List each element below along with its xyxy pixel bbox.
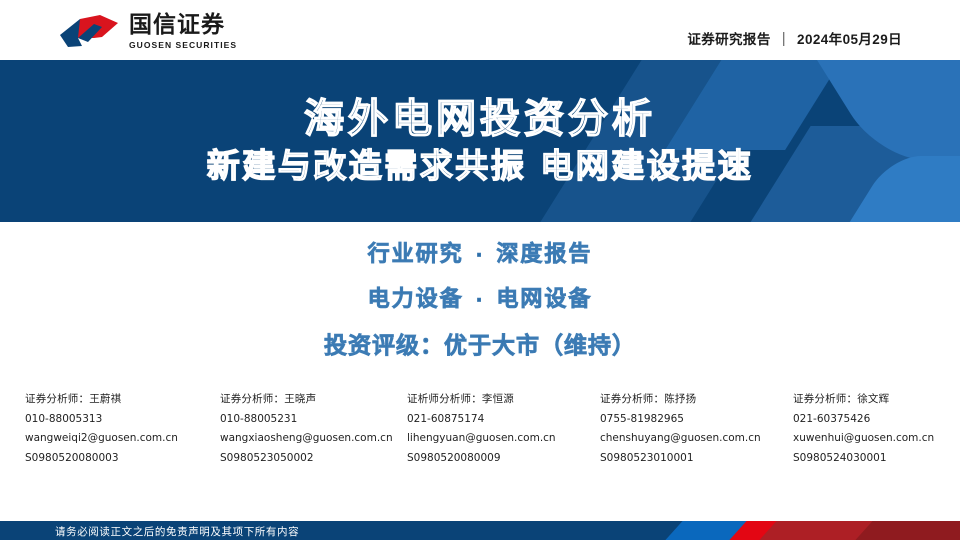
analyst-email[interactable]: lihengyuan@guosen.com.cn bbox=[407, 433, 600, 444]
analyst-column: 证券分析师：徐文辉 021-60375426 xuwenhui@guosen.c… bbox=[793, 394, 960, 463]
report-classification: 行业研究·深度报告 电力设备·电网设备 投资评级：优于大市（维持） bbox=[0, 236, 960, 360]
analyst-column: 证券分析师：王蔚祺 010-88005313 wangweiqi2@guosen… bbox=[0, 394, 220, 463]
analyst-name: 证券分析师：徐文辉 bbox=[793, 394, 960, 405]
separator-dot: · bbox=[464, 290, 497, 311]
report-title: 海外电网投资分析 bbox=[304, 97, 656, 142]
footer-decoration-blue bbox=[665, 521, 812, 540]
footer-decoration-mid-red bbox=[759, 521, 916, 540]
analyst-name: 证析师分析师：李恒源 bbox=[407, 394, 600, 405]
analyst-list: 证券分析师：王蔚祺 010-88005313 wangweiqi2@guosen… bbox=[0, 394, 960, 463]
analyst-column: 证券分析师：王晓声 010-88005231 wangxiaosheng@guo… bbox=[220, 394, 407, 463]
research-category-left: 行业研究 bbox=[368, 242, 464, 267]
footer-decoration-red bbox=[729, 521, 816, 540]
report-date: 2024年05月29日 bbox=[797, 28, 902, 48]
page-header: 国信证券 GUOSEN SECURITIES 证券研究报告 | 2024年05月… bbox=[0, 0, 960, 60]
industry-right: 电网设备 bbox=[496, 287, 592, 312]
report-type-label: 证券研究报告 bbox=[687, 28, 770, 48]
analyst-email[interactable]: chenshuyang@guosen.com.cn bbox=[600, 433, 793, 444]
analyst-email[interactable]: xuwenhui@guosen.com.cn bbox=[793, 433, 960, 444]
industry-line: 电力设备·电网设备 bbox=[368, 281, 593, 313]
brand-name-cn: 国信证券 bbox=[129, 14, 237, 37]
disclaimer-text: 请务必阅读正文之后的免责声明及其项下所有内容 bbox=[55, 524, 299, 539]
title-group: 海外电网投资分析 新建与改造需求共振 电网建设提速 bbox=[0, 60, 960, 222]
analyst-name: 证券分析师：王蔚祺 bbox=[25, 394, 220, 405]
report-subtitle: 新建与改造需求共振 电网建设提速 bbox=[207, 148, 754, 185]
footer-decoration-dark-red bbox=[855, 521, 960, 540]
analyst-column: 证析师分析师：李恒源 021-60875174 lihengyuan@guose… bbox=[407, 394, 600, 463]
analyst-license: S0980523050002 bbox=[220, 453, 407, 464]
analyst-phone: 0755-81982965 bbox=[600, 414, 793, 425]
brand-name-en: GUOSEN SECURITIES bbox=[129, 41, 237, 50]
research-category-right: 深度报告 bbox=[496, 242, 592, 267]
guosen-logo-icon bbox=[58, 15, 120, 49]
brand-logo: 国信证券 GUOSEN SECURITIES bbox=[58, 14, 237, 50]
analyst-name: 证券分析师：陈抒扬 bbox=[600, 394, 793, 405]
analyst-email[interactable]: wangweiqi2@guosen.com.cn bbox=[25, 433, 220, 444]
analyst-phone: 021-60375426 bbox=[793, 414, 960, 425]
brand-wordmark: 国信证券 GUOSEN SECURITIES bbox=[129, 14, 237, 50]
analyst-license: S0980524030001 bbox=[793, 453, 960, 464]
analyst-phone: 010-88005313 bbox=[25, 414, 220, 425]
header-meta: 证券研究报告 | 2024年05月29日 bbox=[687, 28, 902, 48]
analyst-license: S0980523010001 bbox=[600, 453, 793, 464]
separator-dot: · bbox=[464, 245, 497, 266]
analyst-email[interactable]: wangxiaosheng@guosen.com.cn bbox=[220, 433, 407, 444]
analyst-phone: 021-60875174 bbox=[407, 414, 600, 425]
research-category-line: 行业研究·深度报告 bbox=[368, 236, 593, 268]
analyst-license: S0980520080009 bbox=[407, 453, 600, 464]
analyst-license: S0980520080003 bbox=[25, 453, 220, 464]
analyst-column: 证券分析师：陈抒扬 0755-81982965 chenshuyang@guos… bbox=[600, 394, 793, 463]
header-divider: | bbox=[782, 30, 786, 47]
industry-left: 电力设备 bbox=[368, 287, 464, 312]
analyst-phone: 010-88005231 bbox=[220, 414, 407, 425]
analyst-name: 证券分析师：王晓声 bbox=[220, 394, 407, 405]
title-banner: 海外电网投资分析 新建与改造需求共振 电网建设提速 bbox=[0, 60, 960, 222]
page-footer: 请务必阅读正文之后的免责声明及其项下所有内容 bbox=[0, 521, 960, 540]
investment-rating: 投资评级：优于大市（维持） bbox=[324, 326, 636, 360]
